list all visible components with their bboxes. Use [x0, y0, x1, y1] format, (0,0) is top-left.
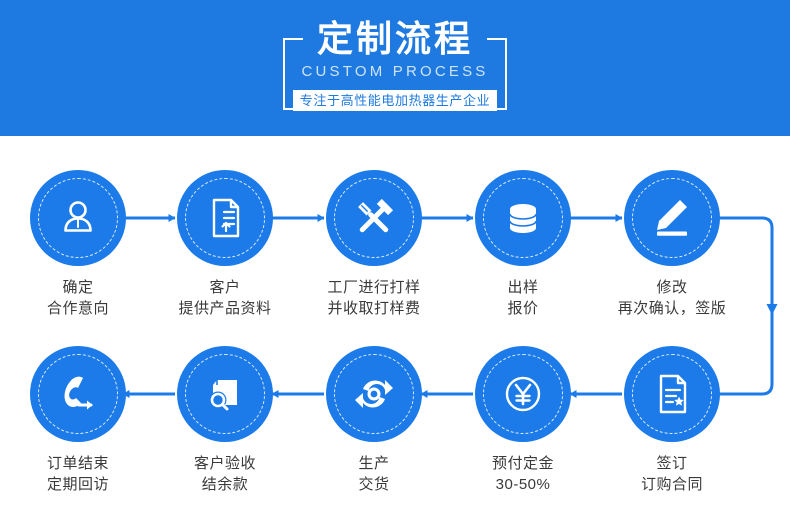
flow-step-9[interactable]: 客户验收 结余款 — [152, 346, 298, 495]
flow-step-10-label: 订单结束 定期回访 — [5, 453, 151, 495]
flow-step-2[interactable]: 客户 提供产品资料 — [152, 170, 298, 319]
flow-step-5-bubble[interactable] — [624, 170, 720, 266]
document-upload-icon — [204, 195, 246, 241]
flow-step-4-bubble[interactable] — [475, 170, 571, 266]
flow-step-8[interactable]: 生产 交货 — [301, 346, 447, 495]
yen-coin-icon — [501, 372, 545, 416]
flow-step-10-bubble[interactable] — [30, 346, 126, 442]
production-cycle-icon — [350, 372, 398, 416]
layers-stack-icon — [502, 197, 544, 239]
box-inspect-icon — [202, 373, 248, 415]
flow-step-2-bubble[interactable] — [177, 170, 273, 266]
flow-step-7-bubble[interactable] — [475, 346, 571, 442]
flow-step-1[interactable]: 确定 合作意向 — [5, 170, 151, 319]
page-subtitle: CUSTOM PROCESS — [301, 62, 488, 82]
tools-icon — [351, 195, 397, 241]
flow-step-2-label: 客户 提供产品资料 — [152, 277, 298, 319]
phone-callback-icon — [54, 372, 102, 416]
flow-step-4[interactable]: 出样 报价 — [450, 170, 596, 319]
flow-step-3[interactable]: 工厂进行打样 并收取打样费 — [301, 170, 447, 319]
flow-step-9-label: 客户验收 结余款 — [152, 453, 298, 495]
flow-step-5-label: 修改 再次确认，签版 — [599, 277, 745, 319]
flow-step-7[interactable]: 预付定金 30-50% — [450, 346, 596, 495]
flow-step-4-label: 出样 报价 — [450, 277, 596, 319]
flow-step-6-bubble[interactable] — [624, 346, 720, 442]
flow-step-1-label: 确定 合作意向 — [5, 277, 151, 319]
flow-step-9-bubble[interactable] — [177, 346, 273, 442]
user-icon — [56, 196, 100, 240]
flow-step-8-label: 生产 交货 — [301, 453, 447, 495]
process-flow-diagram: 确定 合作意向 客户 提供产品资料 — [0, 136, 790, 509]
flow-step-6[interactable]: 签订 订购合同 — [599, 346, 745, 495]
flow-step-3-label: 工厂进行打样 并收取打样费 — [301, 277, 447, 319]
flow-step-1-bubble[interactable] — [30, 170, 126, 266]
tagline-container: 专注于高性能电加热器生产企业 — [0, 90, 790, 111]
flow-step-5[interactable]: 修改 再次确认，签版 — [599, 170, 745, 319]
contract-seal-icon — [651, 371, 693, 417]
flow-step-3-bubble[interactable] — [326, 170, 422, 266]
flow-step-10[interactable]: 订单结束 定期回访 — [5, 346, 151, 495]
page-subtitle-container: CUSTOM PROCESS — [0, 62, 790, 82]
pencil-edit-icon — [649, 197, 695, 239]
tagline-badge: 专注于高性能电加热器生产企业 — [293, 90, 497, 111]
flow-step-8-bubble[interactable] — [326, 346, 422, 442]
flow-step-6-label: 签订 订购合同 — [599, 453, 745, 495]
page-title-container: 定制流程 — [0, 18, 790, 60]
page-title: 定制流程 — [303, 18, 487, 60]
flow-step-7-label: 预付定金 30-50% — [450, 453, 596, 495]
page-header: 定制流程 CUSTOM PROCESS 专注于高性能电加热器生产企业 — [0, 0, 790, 136]
